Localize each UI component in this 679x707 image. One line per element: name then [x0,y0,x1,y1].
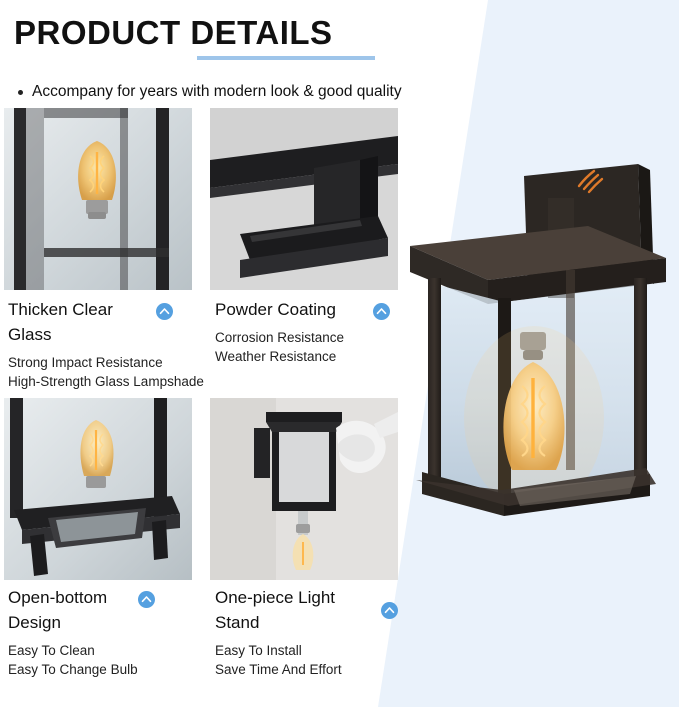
bullet-dot-icon [18,90,23,95]
tagline-text: Accompany for years with modern look & g… [32,83,402,101]
feature-heading: Thicken Clear Glass [8,297,183,347]
feature-details: Easy To Install Save Time And Effort [215,641,342,679]
tagline: Accompany for years with modern look & g… [18,83,402,101]
feature-caption-one-piece-light-stand: One-piece Light Stand Easy To Install Sa… [215,585,342,679]
feature-heading: One-piece Light Stand [215,585,342,635]
feature-details: Easy To Clean Easy To Change Bulb [8,641,138,679]
chevron-up-icon [373,303,390,320]
thicken-clear-glass-illustration [4,108,192,290]
page-title-part-2: DETAILS [190,14,332,52]
open-bottom-illustration [4,398,192,580]
feature-image-one-piece-light-stand [210,398,398,580]
chevron-up-icon [156,303,173,320]
feature-image-thicken-clear-glass [4,108,192,290]
wall-lantern-illustration [398,150,679,570]
feature-details: Strong Impact Resistance High-Strength G… [8,353,204,391]
title-underline [197,56,375,60]
feature-heading: Open-bottom Design [8,585,138,635]
chevron-up-icon [138,591,155,608]
feature-caption-thicken-clear-glass: Thicken Clear Glass Strong Impact Resist… [8,297,204,391]
powder-coating-illustration [210,108,398,290]
page-title: PRODUCT DETAILS [14,14,333,52]
feature-heading: Powder Coating [215,297,344,322]
feature-caption-powder-coating: Powder Coating Corrosion Resistance Weat… [215,297,344,366]
feature-caption-open-bottom-design: Open-bottom Design Easy To Clean Easy To… [8,585,138,679]
page-title-part-1: PRODUCT [14,14,190,52]
feature-details: Corrosion Resistance Weather Resistance [215,328,344,366]
hero-product-image [398,150,679,570]
one-piece-light-stand-illustration [210,398,398,580]
chevron-up-icon [381,602,398,619]
wifi-signal-icon [573,168,605,199]
product-details-page: PRODUCT DETAILS Accompany for years with… [0,0,679,707]
feature-image-open-bottom-design [4,398,192,580]
feature-image-powder-coating [210,108,398,290]
